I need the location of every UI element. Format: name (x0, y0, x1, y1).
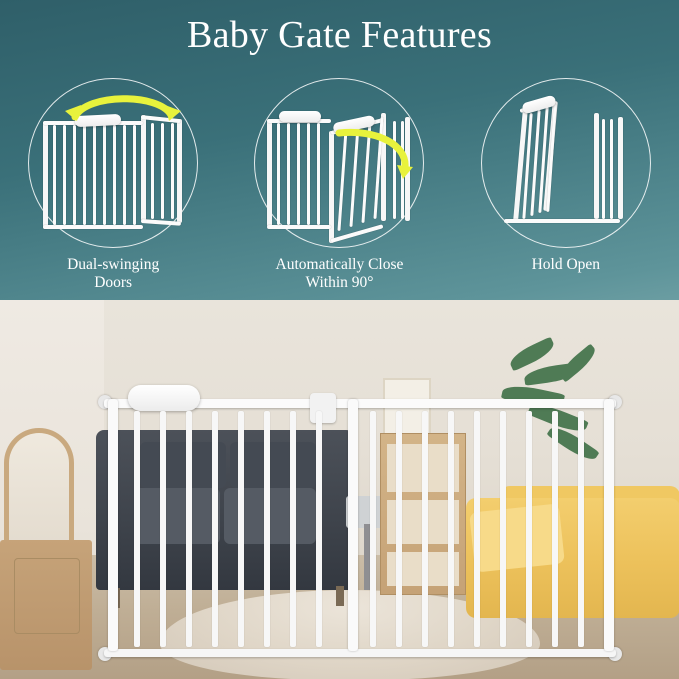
gate-bar (552, 411, 558, 647)
gate-bar (264, 411, 270, 647)
gate-bar (238, 411, 244, 647)
gate-bar (422, 411, 428, 647)
mini-gate-rail (141, 219, 181, 226)
mini-gate-bar (151, 123, 154, 219)
mini-gate-bar (93, 125, 96, 225)
mini-gate-bar (123, 125, 126, 225)
gate-bar (186, 411, 192, 647)
mini-gate-bar (287, 123, 290, 225)
mini-gate-bar (161, 123, 164, 219)
gate-bar (474, 411, 480, 647)
single-curved-arrow-icon (333, 123, 425, 183)
gate-dual-swing-icon (29, 79, 197, 247)
mini-gate-rail (43, 225, 143, 229)
baby-gate-product (98, 385, 622, 665)
mini-gate-bar (83, 125, 86, 225)
mini-gate-bar (63, 125, 66, 225)
gate-bottom-rail (104, 649, 616, 657)
gate-bar (290, 411, 296, 647)
feature-caption-line1: Hold Open (468, 256, 664, 274)
gate-handle[interactable] (128, 385, 200, 411)
feature-caption-line2: Within 90° (241, 274, 437, 292)
gate-auto-close-icon (255, 79, 423, 247)
page-title: Baby Gate Features (0, 12, 679, 58)
mini-gate-bar (73, 125, 76, 225)
feature-caption: Automatically Close Within 90° (241, 256, 437, 292)
mini-gate-bar (171, 123, 174, 219)
gate-hold-open-icon (482, 79, 650, 247)
double-curved-arrow-icon (59, 87, 189, 131)
gate-bar (160, 411, 166, 647)
feature-caption: Hold Open (468, 256, 664, 274)
gate-bar (500, 411, 506, 647)
mini-gate-post (594, 113, 599, 219)
gate-bar (134, 411, 140, 647)
mini-gate-rail (267, 225, 331, 229)
gate-bar (370, 411, 376, 647)
mini-gate-bar (317, 123, 320, 225)
gate-post-right (604, 399, 614, 651)
gate-bar (526, 411, 532, 647)
gate-post-left (108, 399, 118, 651)
gate-latch[interactable] (310, 393, 336, 423)
gate-bar (212, 411, 218, 647)
gate-bar (396, 411, 402, 647)
mini-gate-bar (277, 123, 280, 225)
gate-post-center (348, 399, 358, 651)
mini-gate-bar (307, 123, 310, 225)
mini-gate-handle (279, 111, 321, 122)
gate-bar (578, 411, 584, 647)
feature-auto-close-90: Automatically Close Within 90° (241, 78, 437, 292)
gate-bar (316, 411, 322, 647)
mini-gate-bar (610, 119, 613, 219)
mini-gate-bar (53, 125, 56, 225)
mini-gate-post (618, 117, 623, 219)
mini-gate-post (177, 119, 182, 223)
feature-circle (28, 78, 198, 248)
feature-circle (254, 78, 424, 248)
feature-circle (481, 78, 651, 248)
mini-gate-post (43, 121, 48, 229)
mini-gate-bar (113, 125, 116, 225)
mini-gate-bar (602, 119, 605, 219)
cabinet-door (14, 558, 80, 634)
mini-gate-post (267, 119, 272, 227)
plant-leaf (557, 343, 600, 382)
gate-bar (448, 411, 454, 647)
feature-caption-line1: Automatically Close (241, 256, 437, 274)
feature-caption-line1: Dual-swinging (15, 256, 211, 274)
mini-gate-bar (103, 125, 106, 225)
feature-caption: Dual-swinging Doors (15, 256, 211, 292)
feature-dual-swinging-doors: Dual-swinging Doors (15, 78, 211, 292)
arched-mirror (4, 428, 74, 556)
feature-hold-open: Hold Open (468, 78, 664, 274)
mini-gate-rail (504, 219, 620, 223)
product-feature-image: Baby Gate Features (0, 0, 679, 679)
mini-gate-bar (133, 125, 136, 225)
mini-gate-bar (297, 123, 300, 225)
feature-caption-line2: Doors (15, 274, 211, 292)
feature-list: Dual-swinging Doors (0, 78, 679, 308)
